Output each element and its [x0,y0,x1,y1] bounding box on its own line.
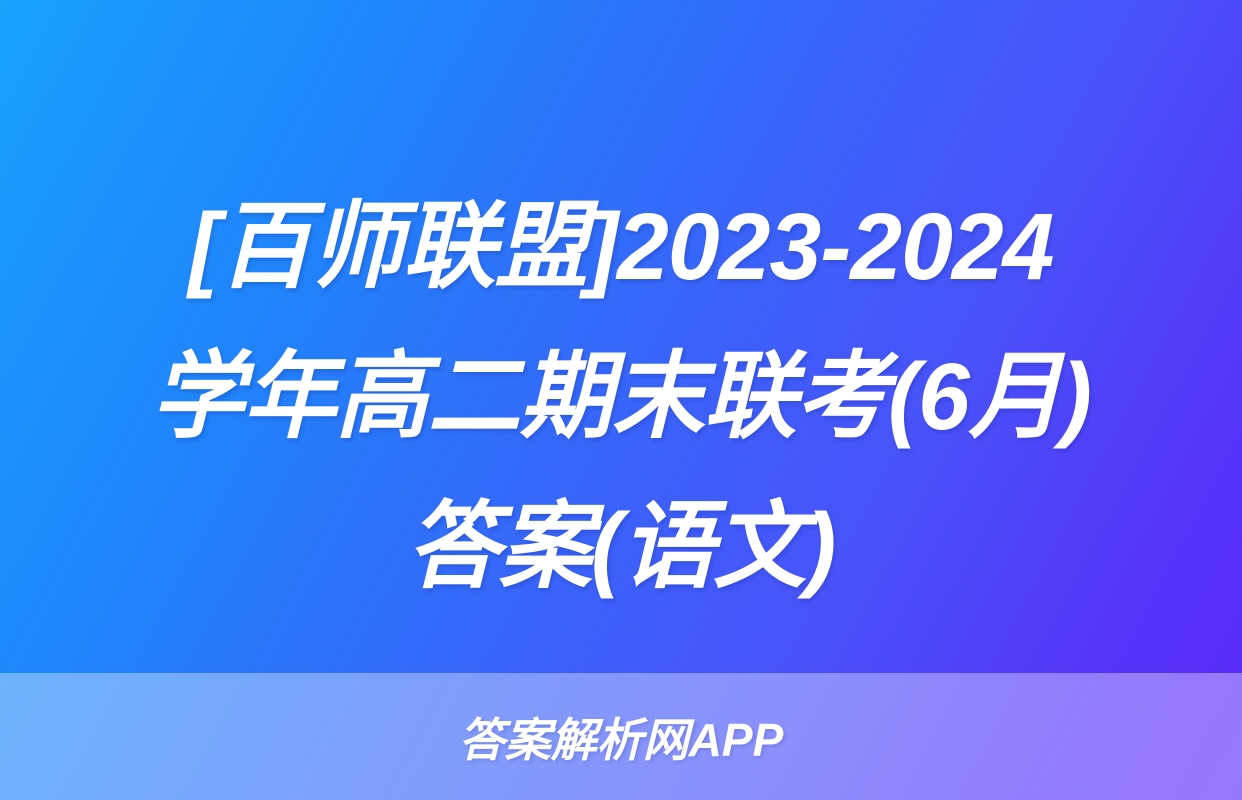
watermark-band: 答案解析网APP [0,673,1242,800]
poster-canvas: [百师联盟]2023-2024 学年高二期末联考(6月) 答案(语文) 答案解析… [0,0,1242,800]
title-line-2: 学年高二期末联考(6月) [71,322,1171,472]
title-line-3: 答案(语文) [71,472,1171,622]
watermark-text: 答案解析网APP [459,704,784,770]
poster-title-block: [百师联盟]2023-2024 学年高二期末联考(6月) 答案(语文) [0,172,1242,622]
title-line-1: [百师联盟]2023-2024 [71,172,1171,322]
